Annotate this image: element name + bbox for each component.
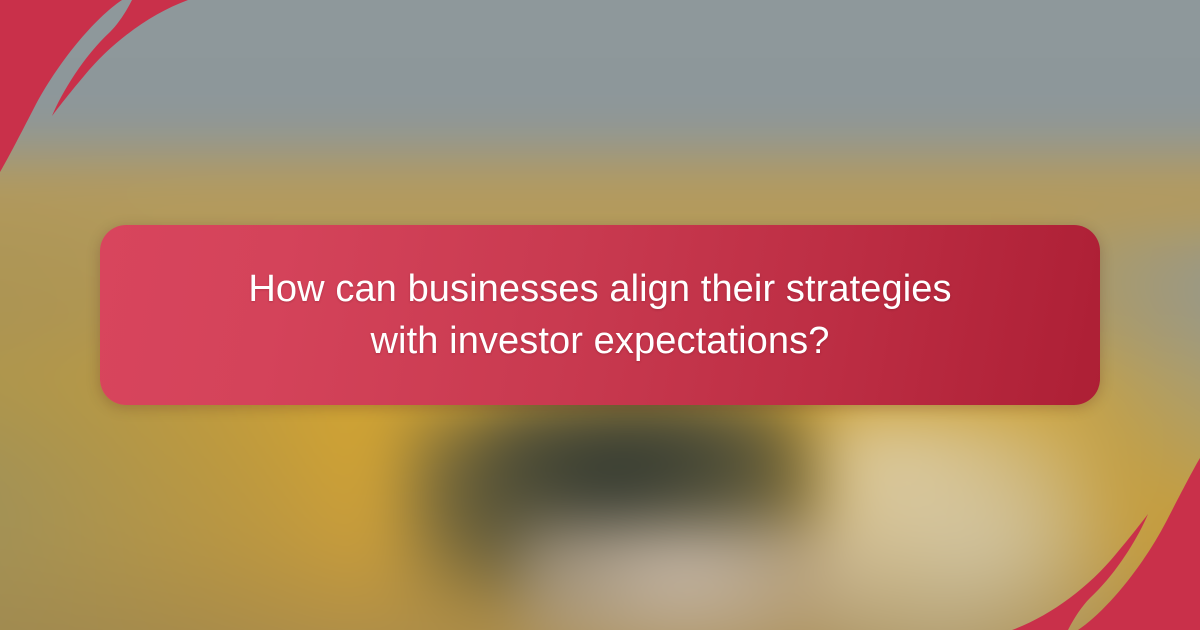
slide-canvas: How can businesses align their strategie… [0, 0, 1200, 630]
question-text: How can businesses align their strategie… [230, 263, 970, 368]
question-card: How can businesses align their strategie… [100, 225, 1100, 405]
background-bottom-shade [0, 538, 1200, 630]
